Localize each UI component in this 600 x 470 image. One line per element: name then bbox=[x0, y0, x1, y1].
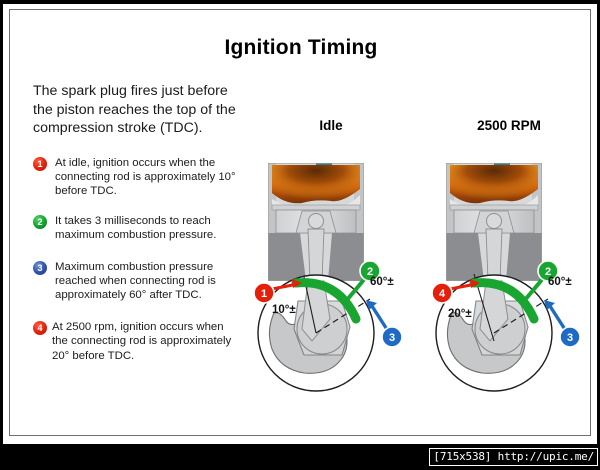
bullet-text-2: It takes 3 milliseconds to reach maximum… bbox=[55, 215, 216, 241]
engine-diagram-idle: Idle bbox=[246, 118, 416, 401]
callout-badge-ignition-2500rpm-label: 4 bbox=[439, 288, 446, 300]
image-white-frame: Ignition Timing The spark plug fires jus… bbox=[0, 0, 600, 444]
engine-svg-idle: 1 2 3 10°± 60°± bbox=[246, 141, 416, 401]
cylinder-block-idle bbox=[268, 163, 364, 281]
bullet-item-4: 4 At 2500 rpm, ignition occurs when the … bbox=[33, 320, 238, 363]
bullet-badge-4-icon: 4 bbox=[33, 321, 47, 335]
page-title: Ignition Timing bbox=[10, 36, 592, 60]
panel-graphic-2500rpm: 4 2 3 20°± 60°± bbox=[424, 141, 594, 401]
frame-edge-top bbox=[0, 0, 600, 4]
bullet-badge-3-icon: 3 bbox=[33, 261, 47, 275]
bullet-item-3: 3 Maximum combustion pressure reached wh… bbox=[33, 260, 238, 303]
bullet-text-4: At 2500 rpm, ignition occurs when the co… bbox=[52, 321, 231, 361]
bullet-badge-1-icon: 1 bbox=[33, 157, 47, 171]
intro-paragraph: The spark plug fires just before the pis… bbox=[33, 82, 238, 138]
callout-badge-peak-2500rpm-label: 3 bbox=[567, 332, 573, 344]
callout-badge-ignition-idle-label: 1 bbox=[261, 288, 267, 300]
engine-diagram-2500rpm: 2500 RPM bbox=[424, 118, 594, 401]
explanation-column: The spark plug fires just before the pis… bbox=[33, 82, 238, 363]
panel-heading-idle: Idle bbox=[246, 118, 416, 133]
bullet-badge-2-icon: 2 bbox=[33, 215, 47, 229]
engine-svg-2500rpm: 4 2 3 20°± 60°± bbox=[424, 141, 594, 401]
bullet-text-3: Maximum combustion pressure reached when… bbox=[55, 261, 216, 301]
peak-angle-label-2500rpm: 60°± bbox=[548, 276, 572, 288]
panel-heading-2500rpm: 2500 RPM bbox=[424, 118, 594, 133]
peak-angle-label-idle: 60°± bbox=[370, 276, 394, 288]
bullet-item-2: 2 It takes 3 milliseconds to reach maxim… bbox=[33, 214, 238, 242]
frame-edge-left bbox=[0, 0, 3, 444]
screenshot-root: Ignition Timing The spark plug fires jus… bbox=[0, 0, 600, 470]
image-inner-border: Ignition Timing The spark plug fires jus… bbox=[9, 9, 591, 436]
watermark-label: [715x538] http://upic.me/ bbox=[429, 448, 598, 466]
bullet-text-1: At idle, ignition occurs when the connec… bbox=[55, 157, 236, 197]
callout-badge-peak-idle-label: 3 bbox=[389, 332, 395, 344]
panel-graphic-idle: 1 2 3 10°± 60°± bbox=[246, 141, 416, 401]
cylinder-block-2500rpm bbox=[446, 163, 542, 281]
ignition-angle-label-idle: 10°± bbox=[272, 304, 296, 316]
bullet-item-1: 1 At idle, ignition occurs when the conn… bbox=[33, 156, 238, 199]
ignition-angle-label-2500rpm: 20°± bbox=[448, 308, 472, 320]
